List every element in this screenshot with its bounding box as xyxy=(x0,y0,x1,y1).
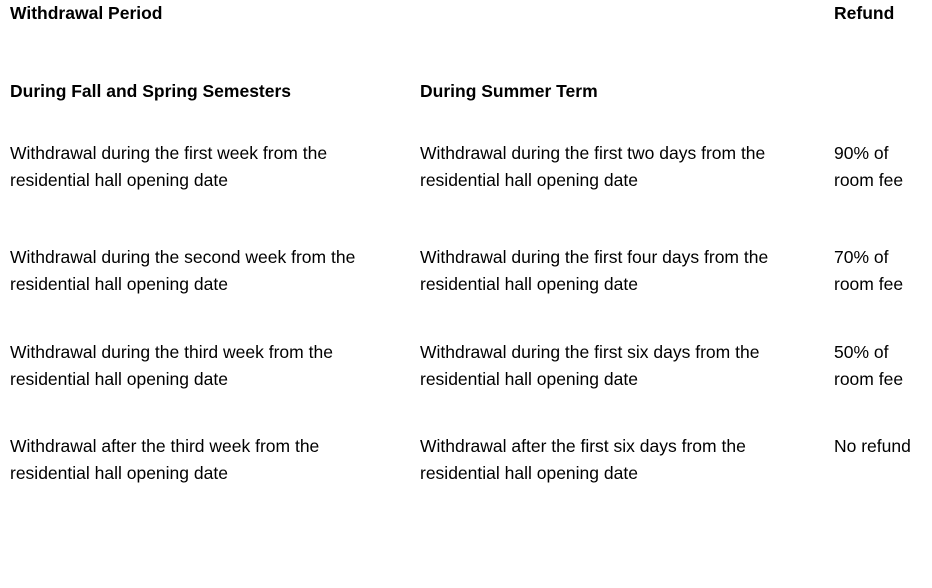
row-1-fall-spring: Withdrawal during the first week from th… xyxy=(0,140,410,194)
row-spacer xyxy=(0,393,932,433)
row-1-summer: Withdrawal during the first two days fro… xyxy=(410,140,822,194)
row-4-fall-spring: Withdrawal after the third week from the… xyxy=(0,433,410,487)
row-2-fall-spring: Withdrawal during the second week from t… xyxy=(0,244,410,298)
row-2-summer: Withdrawal during the first four days fr… xyxy=(410,244,822,298)
row-spacer xyxy=(0,298,932,339)
withdrawal-refund-table: Withdrawal Period Refund During Fall and… xyxy=(0,0,932,487)
row-spacer xyxy=(0,194,932,244)
row-4-summer: Withdrawal after the first six days from… xyxy=(410,433,822,487)
table-row: Withdrawal during the second week from t… xyxy=(0,244,932,298)
row-4-refund: No refund xyxy=(822,433,932,460)
row-2-refund: 70% of room fee xyxy=(822,244,932,298)
withdrawal-refund-document: Withdrawal Period Refund During Fall and… xyxy=(0,0,932,588)
subheader-fall-spring: During Fall and Spring Semesters xyxy=(0,78,410,105)
row-3-fall-spring: Withdrawal during the third week from th… xyxy=(0,339,410,393)
row-3-refund: 50% of room fee xyxy=(822,339,932,393)
header-withdrawal-period: Withdrawal Period xyxy=(0,0,410,27)
table-row: Withdrawal during the first week from th… xyxy=(0,140,932,194)
row-3-summer: Withdrawal during the first six days fro… xyxy=(410,339,822,393)
table-row: Withdrawal after the third week from the… xyxy=(0,433,932,487)
row-1-refund: 90% of room fee xyxy=(822,140,932,194)
subheader-summer: During Summer Term xyxy=(410,78,822,105)
table-row: Withdrawal during the third week from th… xyxy=(0,339,932,393)
table-subheader-row: During Fall and Spring Semesters During … xyxy=(0,78,932,140)
table-header-row: Withdrawal Period Refund xyxy=(0,0,932,78)
header-refund: Refund xyxy=(822,0,932,27)
